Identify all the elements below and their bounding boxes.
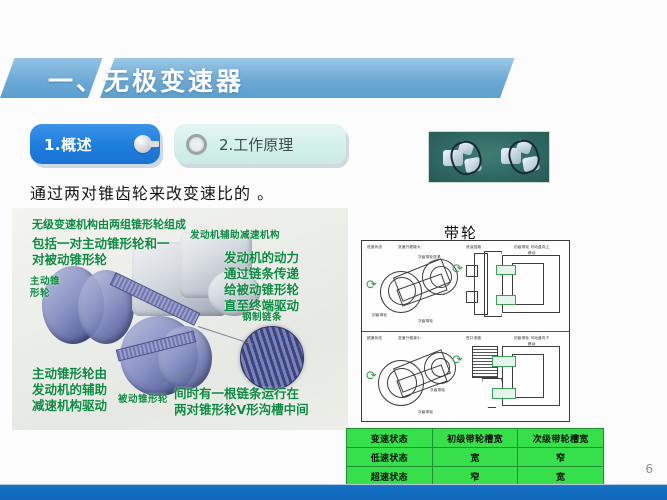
annotation-5: 发动机的动力 通过链条传递 给被动锥形轮 直至终端驱动: [224, 250, 299, 314]
diagram-label: 低速状态: [367, 245, 382, 250]
flow-band: [496, 295, 516, 305]
diagram-label: 次级带轮: [418, 410, 433, 415]
flow-band: [492, 388, 516, 399]
annotation-4: 发动机辅助减速机构: [190, 230, 280, 242]
table-header-cell: 次级带轮槽宽: [518, 429, 604, 448]
table-cell-primary: 窄: [432, 467, 518, 486]
annotation-8: 被动锥形轮: [118, 394, 168, 406]
diagram-label: 变速行程减小: [398, 336, 421, 341]
diagram-label: 进口泄路: [466, 336, 481, 341]
tab-overview[interactable]: 1.概述: [30, 124, 160, 164]
diagram-label: 次级带轮: [418, 319, 433, 324]
table-row: 超速状态 窄 宽: [347, 467, 604, 486]
diagram-label: 初级带轮 可动盘向下: [514, 336, 550, 341]
rotation-arrow-icon: ⟳: [452, 354, 463, 367]
table-cell-secondary: 窄: [518, 448, 604, 467]
rotation-arrow-icon: ⟳: [366, 279, 377, 292]
diagram-label: 变速行程增大: [398, 245, 421, 250]
annotation-3: 主动锥 形轮: [30, 276, 60, 300]
diagram-low-speed: 低速状态 变速行程增大 泄油回路 初级带轮 可动盘向上 移动 次级带轮张紧 初级…: [362, 241, 569, 331]
cvt-pulley-pair-photo: [428, 131, 550, 183]
table-row: 低速状态 宽 窄: [347, 448, 604, 467]
diagram-label: 超速状态: [367, 336, 382, 341]
footer-bar: [0, 485, 667, 500]
table-cell-state: 低速状态: [347, 448, 433, 467]
page-title: 一、无极变速器: [48, 60, 244, 100]
slide-canvas: 一、无极变速器 1.概述 2.工作原理 通过两对锥齿轮来改变速比的 。: [0, 0, 667, 500]
tab-overview-label: 1.概述: [44, 134, 92, 155]
state-comparison-table: 变速状态 初级带轮槽宽 次级带轮槽宽 低速状态 宽 窄 超速状态 窄 宽: [346, 428, 604, 486]
chain-closeup-circle: [240, 326, 304, 390]
circle-ring-icon: [186, 134, 207, 155]
diagram-label: 次级带轮: [430, 388, 445, 393]
cvt-cutaway-illustration: 无级变速机构由两组锥形轮组成 包括一对主动锥形轮和一 对被动锥形轮 主动锥 形轮…: [12, 208, 348, 430]
flow-band: [492, 356, 516, 367]
diagram-label: 初级带轮: [372, 313, 387, 318]
annotation-2: 包括一对主动锥形轮和一 对被动锥形轮: [32, 236, 170, 268]
annotation-9: 间时有一根链条运行在 两对锥形轮V形沟槽中间: [174, 386, 309, 418]
table-cell-secondary: 宽: [518, 467, 604, 486]
step-nav: 1.概述 2.工作原理: [30, 124, 346, 164]
belt-pulley-diagram-panel: 低速状态 变速行程增大 泄油回路 初级带轮 可动盘向上 移动 次级带轮张紧 初级…: [361, 240, 570, 422]
lead-sentence: 通过两对锥齿轮来改变速比的 。: [30, 180, 274, 204]
tab-working-principle-label: 2.工作原理: [219, 134, 293, 155]
annotation-1: 无级变速机构由两组锥形轮组成: [32, 218, 186, 232]
table-header-row: 变速状态 初级带轮槽宽 次级带轮槽宽: [347, 429, 604, 448]
rotation-arrow-icon: ⟳: [452, 263, 463, 276]
slide-title-banner: 一、无极变速器: [0, 58, 500, 98]
table-header-cell: 变速状态: [347, 429, 433, 448]
table-header-cell: 初级带轮槽宽: [432, 429, 518, 448]
flow-band: [496, 265, 516, 275]
annotation-7: 主动锥形轮由 发动机的辅助 减速机构驱动: [32, 366, 107, 414]
chip-knob-icon: [134, 135, 152, 153]
diagram-overdrive: 超速状态 变速行程减小 进口泄路 初级带轮 可动盘向下 移动 次级带轮 次级带轮…: [362, 331, 569, 422]
page-number: 6: [645, 462, 653, 476]
diagram-label: 初级带轮 可动盘向上: [514, 245, 550, 250]
table-cell-primary: 宽: [432, 448, 518, 467]
diagram-label: 泄油回路: [466, 245, 481, 250]
rotation-arrow-icon: ⟳: [366, 370, 377, 383]
table-cell-state: 超速状态: [347, 467, 433, 486]
annotation-6: 钢制链条: [242, 312, 282, 324]
tab-working-principle[interactable]: 2.工作原理: [174, 124, 346, 164]
